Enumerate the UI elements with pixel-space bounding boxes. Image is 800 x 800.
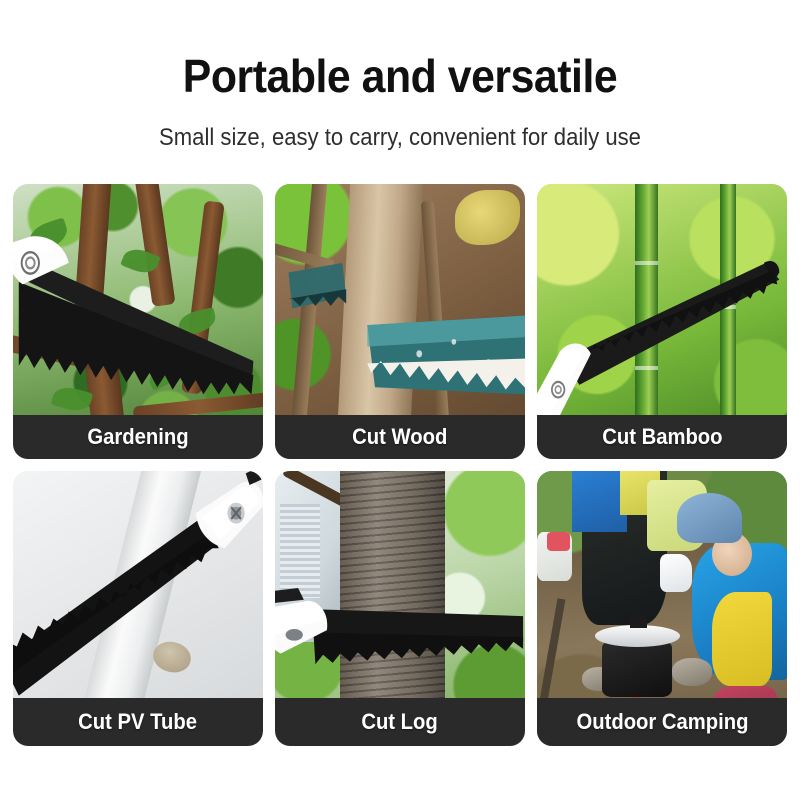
tile-caption-label: Gardening [87,424,188,450]
use-case-tile[interactable]: Cut Bamboo [537,184,787,459]
tile-caption-label: Cut Wood [352,424,447,450]
product-infographic: Portable and versatile Small size, easy … [0,0,800,800]
blue-cap [677,493,742,543]
tile-caption-label: Cut Log [362,709,438,735]
tile-caption-bar: Cut Bamboo [537,415,787,459]
use-case-tile[interactable]: Cut Wood [275,184,525,459]
page-title: Portable and versatile [28,52,772,100]
tile-caption-bar: Outdoor Camping [537,698,787,746]
fire-ring-rock [672,658,712,686]
use-case-tile[interactable]: Outdoor Camping [537,471,787,746]
tile-caption-label: Cut PV Tube [79,709,198,735]
ground-debris [547,532,570,551]
cooking-pot [602,642,672,697]
use-case-tile[interactable]: Cut Log [275,471,525,746]
tile-caption-bar: Gardening [13,415,263,459]
header: Portable and versatile Small size, easy … [0,0,800,152]
use-case-tile[interactable]: Gardening [13,184,263,459]
use-case-grid: Gardening [13,184,787,746]
page-subtitle: Small size, easy to carry, convenient fo… [32,124,768,152]
pot-lid-knob [630,614,648,628]
tile-caption-bar: Cut PV Tube [13,698,263,746]
white-bag [660,554,693,593]
tile-caption-label: Cut Bamboo [602,424,722,450]
tile-caption-bar: Cut Wood [275,415,525,459]
child-yellow-panel [712,592,772,686]
tile-caption-label: Outdoor Camping [576,709,748,735]
tile-caption-bar: Cut Log [275,698,525,746]
use-case-tile[interactable]: Cut PV Tube [13,471,263,746]
